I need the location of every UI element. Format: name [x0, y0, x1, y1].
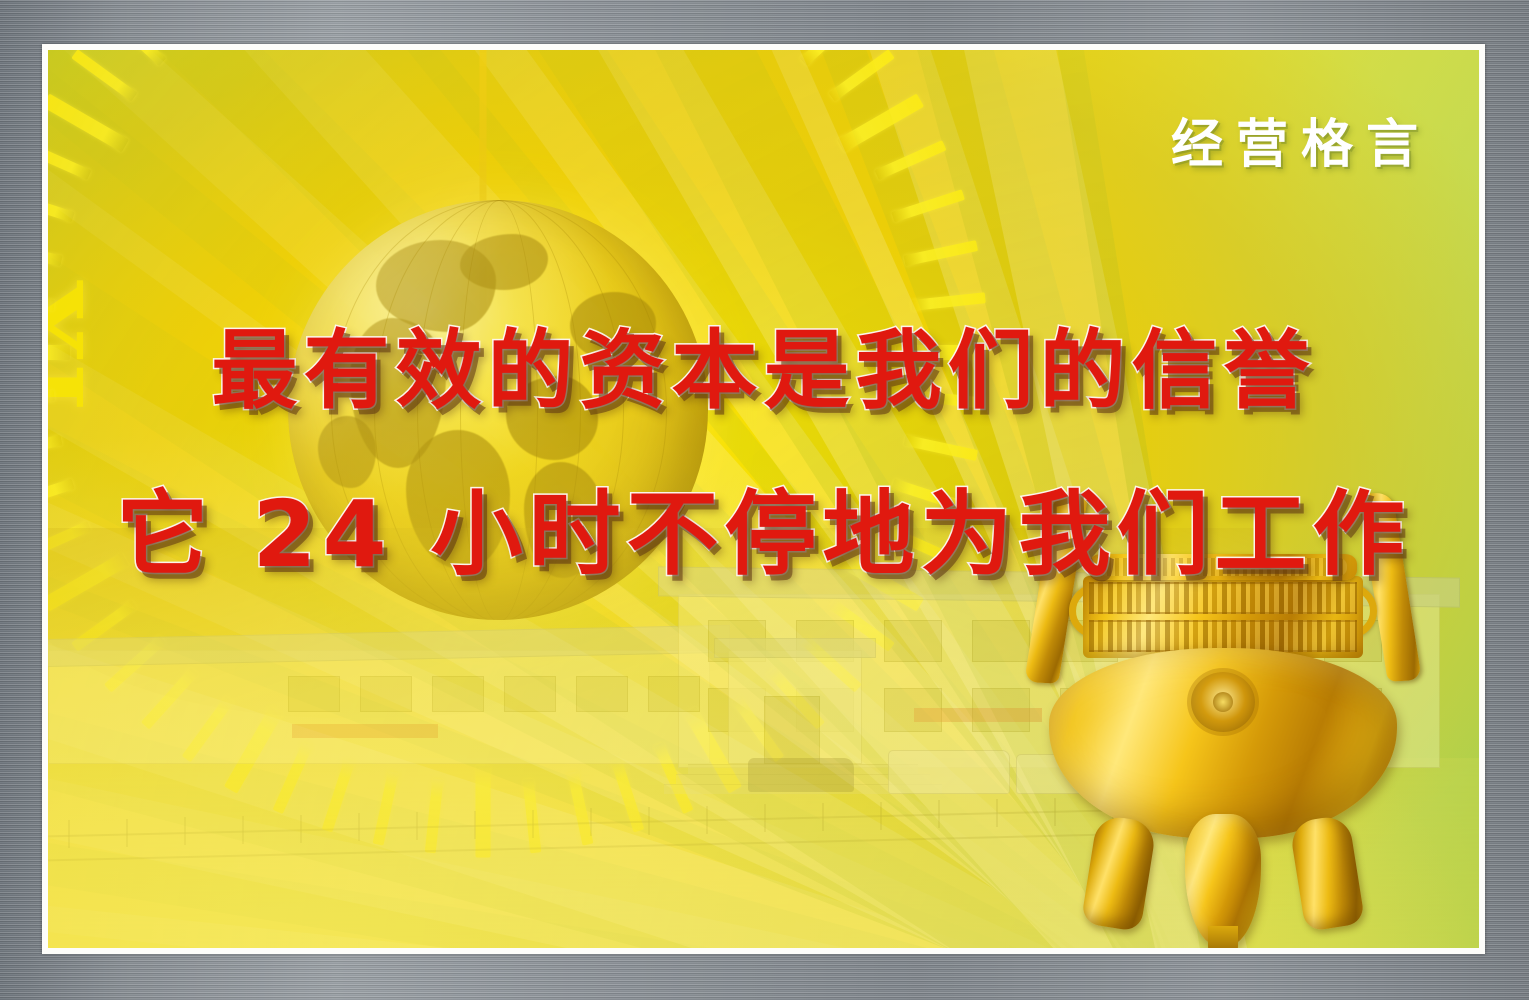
building-window — [972, 620, 1030, 662]
building-window — [648, 676, 700, 712]
ding-taotie-mask — [1191, 672, 1255, 732]
poster-frame: XII IX — [0, 0, 1529, 1000]
clock-hour-tick — [48, 94, 129, 153]
railing-post — [126, 819, 128, 847]
building-window — [576, 676, 628, 712]
railing-post — [648, 807, 650, 835]
building-window — [884, 620, 942, 662]
railing-post — [300, 815, 302, 843]
railing-post — [822, 803, 824, 831]
ding-belly — [1049, 648, 1397, 838]
entrance-door — [764, 696, 820, 764]
railing-post — [764, 804, 766, 832]
clock-minute-tick — [891, 189, 965, 222]
clock-minute-tick — [903, 435, 978, 461]
clock-minute-tick — [48, 189, 75, 222]
railing-post — [938, 800, 940, 828]
clock-minute-tick — [903, 240, 978, 266]
railing-post — [590, 808, 592, 836]
parked-van — [888, 750, 1010, 794]
railing-post — [242, 816, 244, 844]
slogan-line-1: 最有效的资本是我们的信誉 — [48, 300, 1479, 425]
poster-artwork: XII IX — [48, 50, 1479, 948]
building-window — [432, 676, 484, 712]
railing-post — [474, 811, 476, 839]
poster-header-title: 经营格言 — [1171, 102, 1431, 177]
clock-minute-tick — [875, 140, 947, 180]
clock-hour-tick — [837, 94, 924, 153]
entrance-canopy — [714, 638, 876, 658]
wall-banner-right — [914, 708, 1042, 722]
railing-post — [996, 799, 998, 827]
railing-post — [184, 817, 186, 845]
clock-minute-tick — [828, 50, 894, 102]
clock-minute-tick — [48, 140, 91, 180]
building-window — [288, 676, 340, 712]
railing-post — [416, 812, 418, 840]
parked-car — [748, 758, 854, 792]
clock-minute-tick — [48, 435, 63, 461]
slogan-line-2: 它 24 小时不停地为我们工作 — [48, 460, 1479, 593]
clock-minute-tick — [48, 240, 63, 266]
wall-banner-left — [292, 724, 438, 738]
building-window — [360, 676, 412, 712]
railing-post — [880, 802, 882, 830]
railing-post — [532, 810, 534, 838]
building-window — [504, 676, 556, 712]
ding-leg-center-elephant — [1185, 814, 1261, 946]
railing-post — [706, 806, 708, 834]
clock-minute-tick — [800, 50, 862, 66]
clock-minute-tick — [71, 50, 137, 102]
railing-post — [358, 813, 360, 841]
railing-post — [68, 820, 70, 848]
clock-minute-tick — [104, 50, 166, 66]
